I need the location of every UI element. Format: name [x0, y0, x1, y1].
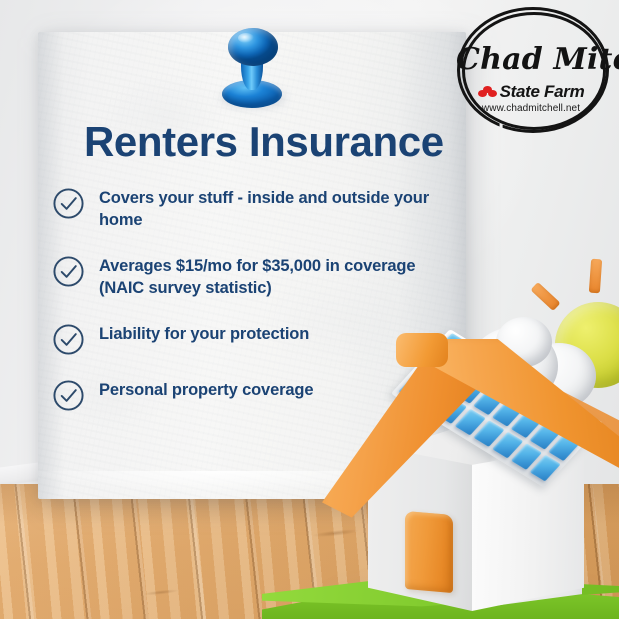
- check-circle-icon: [52, 255, 85, 288]
- brand-lockup: State Farm: [456, 82, 606, 102]
- check-circle-icon: [52, 187, 85, 220]
- pushpin-icon: [218, 28, 290, 112]
- roof-ridge: [396, 333, 448, 367]
- page-title: Renters Insurance: [84, 118, 444, 166]
- brand-name: State Farm: [500, 82, 585, 102]
- check-circle-icon: [52, 323, 85, 356]
- pushpin-knob: [228, 28, 278, 66]
- list-item: Covers your stuff - inside and outside y…: [52, 186, 460, 232]
- sun-ray: [530, 282, 560, 311]
- list-item-label: Covers your stuff - inside and outside y…: [99, 186, 460, 232]
- poster-scene: Renters Insurance Covers your stuff - in…: [0, 0, 619, 619]
- agent-name: Chad Mitchell: [456, 42, 606, 77]
- list-item-label: Personal property coverage: [99, 378, 313, 402]
- state-farm-ovals-icon: [478, 86, 497, 98]
- pushpin-highlight: [238, 33, 254, 43]
- house-door: [405, 511, 453, 593]
- check-circle-icon: [52, 379, 85, 412]
- agent-website: www.chadmitchell.net: [456, 103, 606, 114]
- list-item-label: Liability for your protection: [99, 322, 309, 346]
- agent-logo: Chad Mitchell State Farm www.chadmitchel…: [456, 6, 606, 131]
- sun-ray: [589, 259, 602, 294]
- house-illustration: [300, 255, 619, 619]
